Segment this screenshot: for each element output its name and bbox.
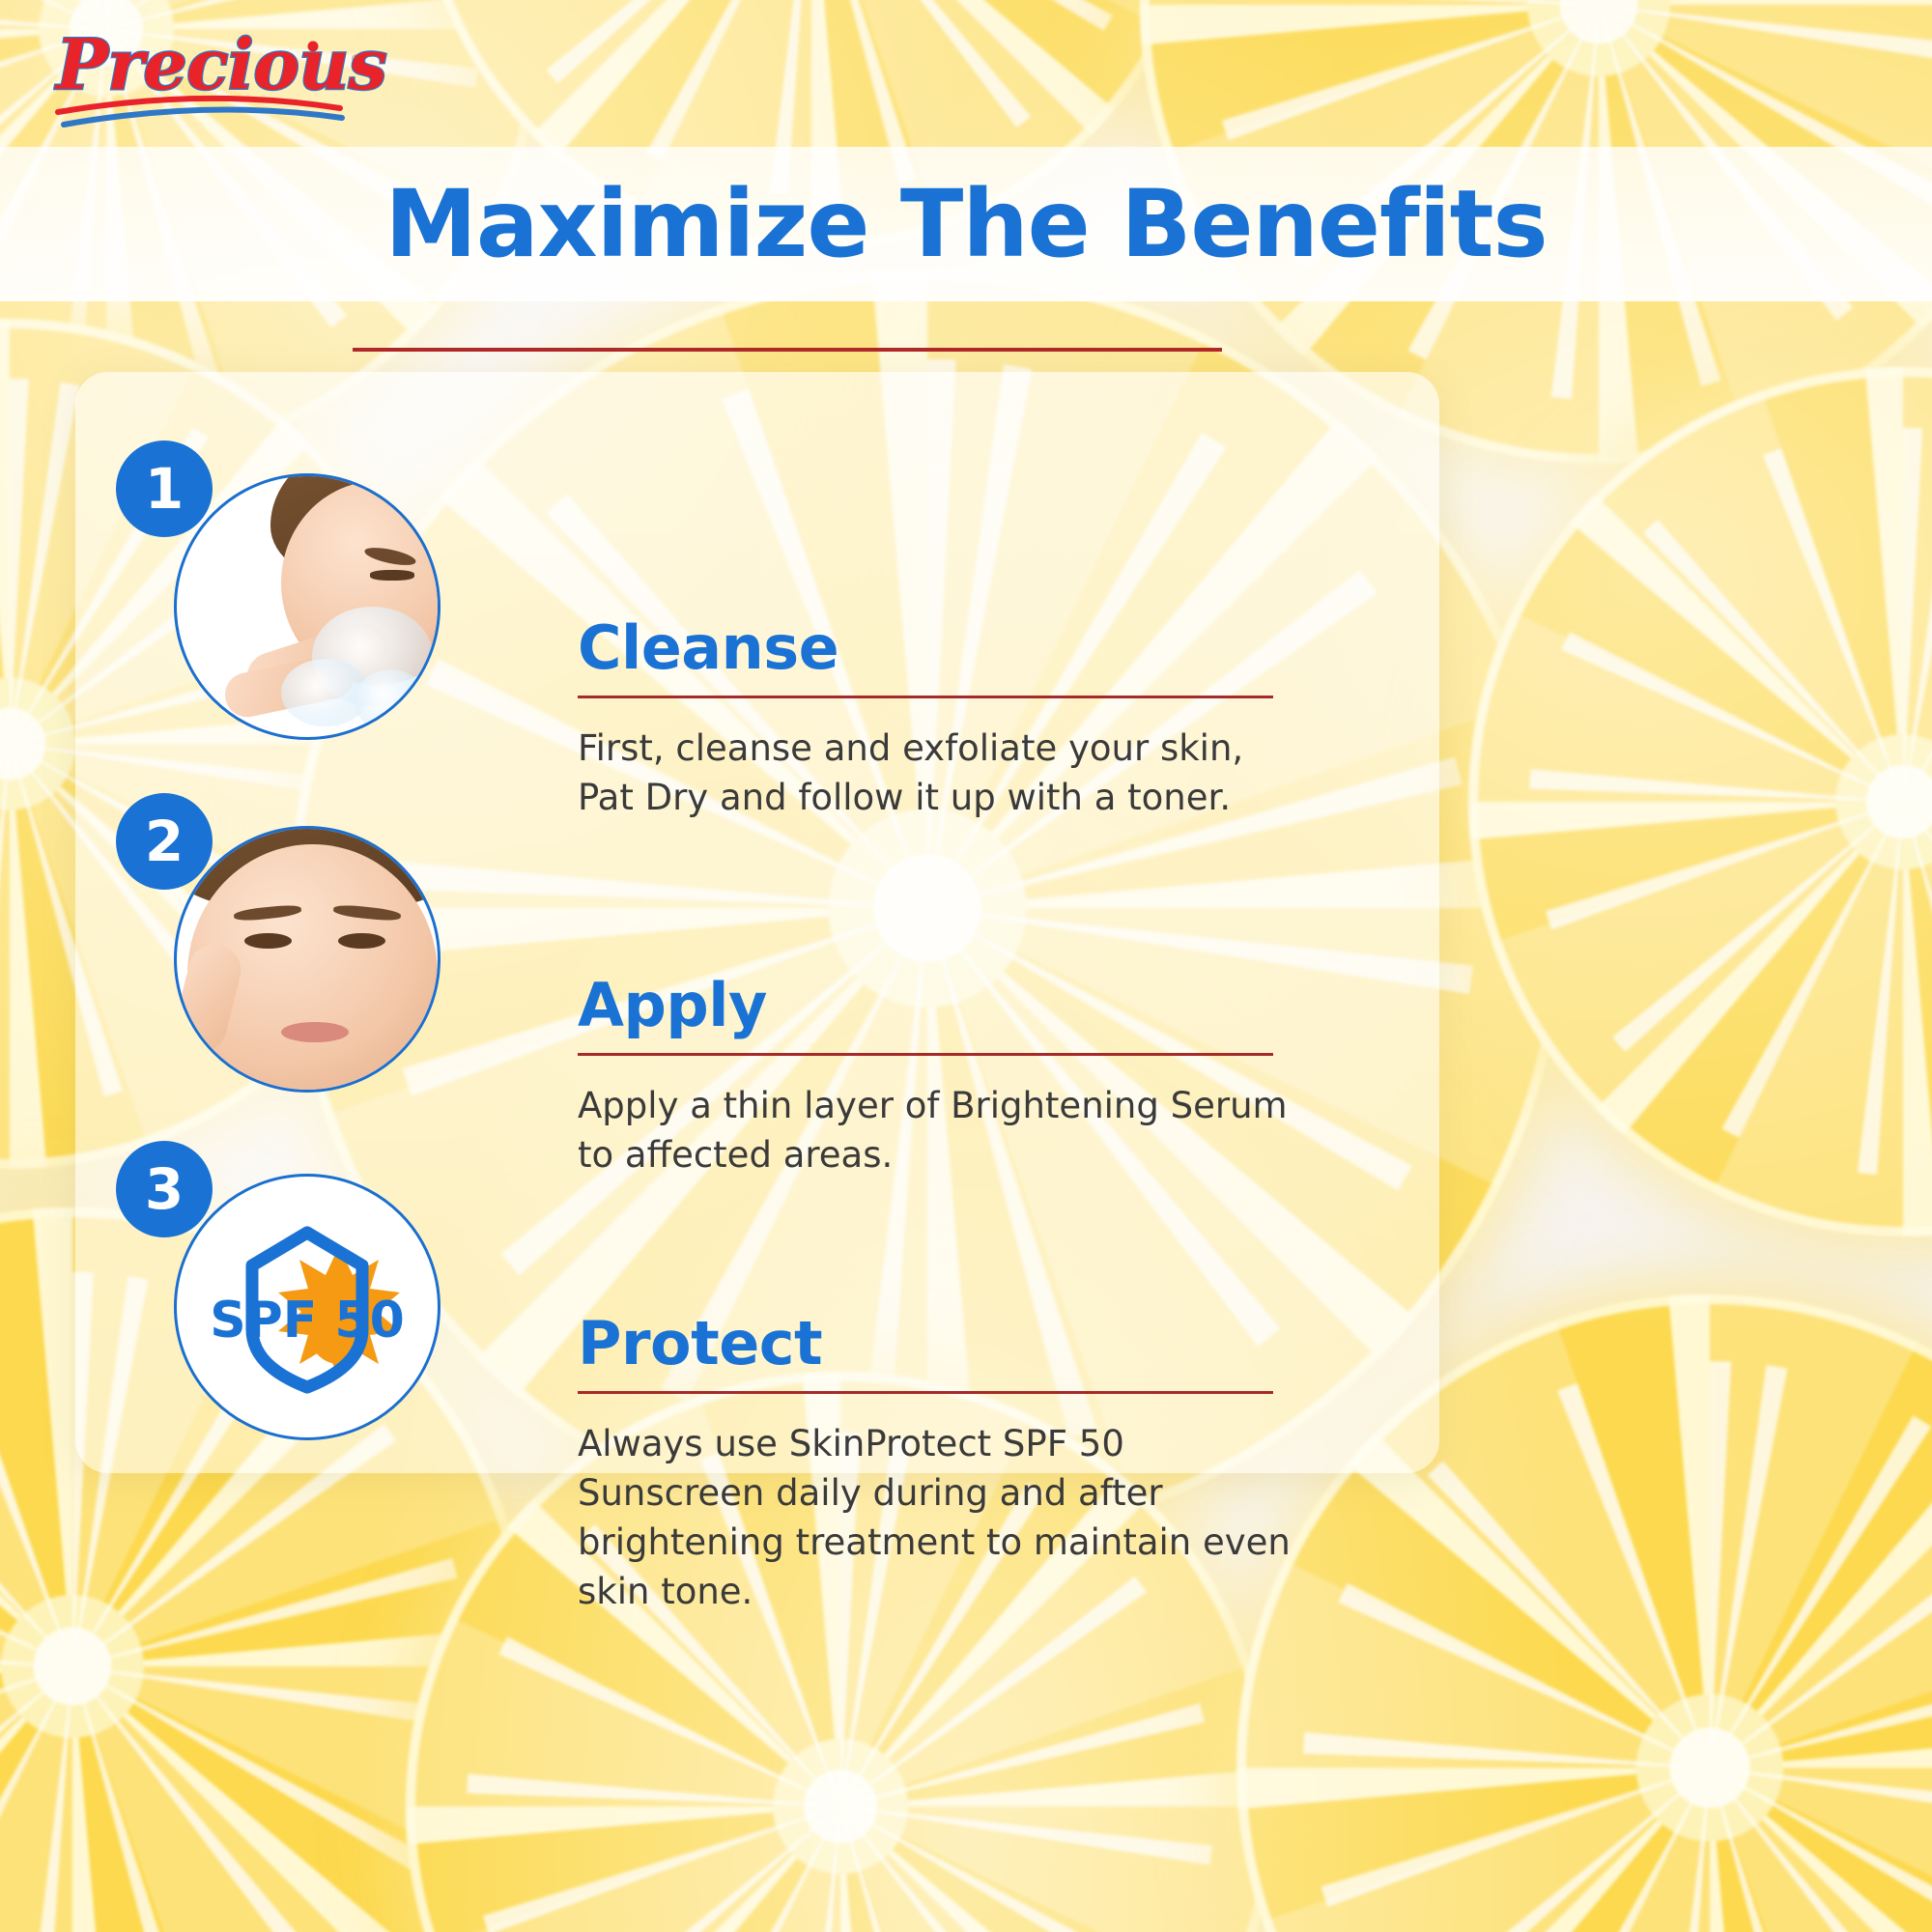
- logo-dot: [308, 42, 319, 52]
- step-3-rule: [578, 1391, 1273, 1394]
- step-1-body: First, cleanse and exfoliate your skin, …: [578, 724, 1293, 822]
- step-2-heading: Apply: [578, 976, 1293, 1036]
- step-2-number-badge: 2: [116, 793, 213, 890]
- woman-applying-serum-photo: [174, 826, 440, 1093]
- title-underline: [353, 348, 1222, 352]
- step-1-media: 1: [174, 473, 435, 734]
- step-1-number-badge: 1: [116, 440, 213, 537]
- step-3-body: Always use SkinProtect SPF 50 Sunscreen …: [578, 1419, 1293, 1616]
- step-2-text: Apply Apply a thin layer of Brightening …: [578, 976, 1293, 1179]
- step-1-text: Cleanse First, cleanse and exfoliate you…: [578, 618, 1293, 822]
- step-3-heading: Protect: [578, 1314, 1293, 1374]
- step-3-media: SPF 50 3: [174, 1174, 435, 1435]
- logo-swoosh-blue: [64, 109, 342, 125]
- step-2-media: 2: [174, 826, 435, 1087]
- brand-logo-text: Precious: [54, 23, 386, 105]
- step-3-number-badge: 3: [116, 1141, 213, 1237]
- woman-washing-face-photo: [174, 473, 440, 740]
- step-2-rule: [578, 1053, 1273, 1056]
- page-title: Maximize The Benefits: [0, 176, 1932, 273]
- step-1-heading: Cleanse: [578, 618, 1293, 678]
- spf-label: SPF 50: [210, 1292, 405, 1350]
- brand-logo: Precious ®: [50, 29, 369, 135]
- step-2-body: Apply a thin layer of Brightening Serum …: [578, 1081, 1293, 1179]
- step-3-text: Protect Always use SkinProtect SPF 50 Su…: [578, 1314, 1293, 1616]
- registered-trademark-icon: ®: [351, 52, 361, 65]
- step-1-rule: [578, 696, 1273, 698]
- spf-50-shield-icon: SPF 50: [174, 1174, 440, 1440]
